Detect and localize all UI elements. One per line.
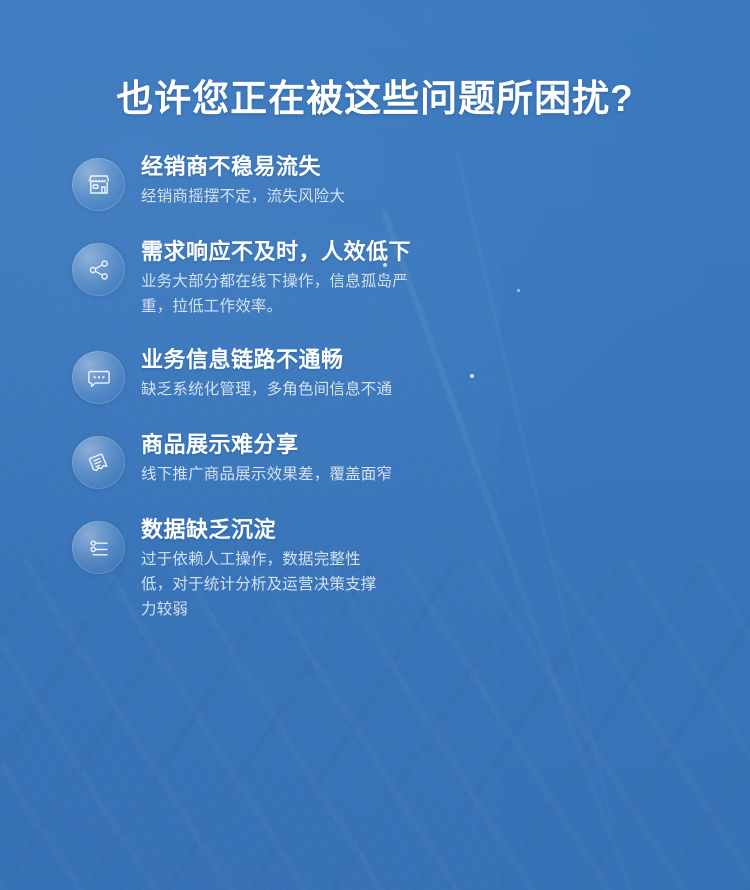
list-item-text: 数据缺乏沉淀 过于依赖人工操作，数据完整性 低，对于统计分析及运营决策支撑 力较… [141,515,377,622]
list-item-title: 经销商不稳易流失 [141,152,345,182]
list-item: 商品展示难分享 线下推广商品展示效果差，覆盖面窄 [0,430,750,489]
list-item-description: 过于依赖人工操作，数据完整性 低，对于统计分析及运营决策支撑 力较弱 [141,547,377,622]
list-item-title: 商品展示难分享 [141,430,392,460]
list-item-title: 业务信息链路不通畅 [141,345,392,375]
list-item: 业务信息链路不通畅 缺乏系统化管理，多角色间信息不通 [0,345,750,404]
list-item: 数据缺乏沉淀 过于依赖人工操作，数据完整性 低，对于统计分析及运营决策支撑 力较… [0,515,750,622]
list-item: 需求响应不及时，人效低下 业务大部分都在线下操作，信息孤岛严 重，拉低工作效率。 [0,237,750,319]
list-item-description: 经销商摇摆不定，流失风险大 [141,184,345,209]
list-item-text: 经销商不稳易流失 经销商摇摆不定，流失风险大 [141,152,345,209]
list-item-title: 数据缺乏沉淀 [141,515,377,545]
page-title: 也许您正在被这些问题所困扰? [0,68,750,122]
promo-page: 也许您正在被这些问题所困扰? 经销商不稳易流失 经销商摇摆不定，流失风险大 [0,0,750,890]
list-item-text: 商品展示难分享 线下推广商品展示效果差，覆盖面窄 [141,430,392,487]
list-item-description: 缺乏系统化管理，多角色间信息不通 [141,377,392,402]
list-item-text: 需求响应不及时，人效低下 业务大部分都在线下操作，信息孤岛严 重，拉低工作效率。 [141,237,411,319]
document-receipt-icon [72,436,125,489]
problem-list: 经销商不稳易流失 经销商摇摆不定，流失风险大 需求响应不及时，人效低下 [0,152,750,648]
storefront-icon [72,158,125,211]
sliders-settings-icon [72,521,125,574]
share-nodes-icon [72,243,125,296]
list-item-title: 需求响应不及时，人效低下 [141,237,411,267]
list-item-text: 业务信息链路不通畅 缺乏系统化管理，多角色间信息不通 [141,345,392,402]
content-layer: 也许您正在被这些问题所困扰? 经销商不稳易流失 经销商摇摆不定，流失风险大 [0,0,750,890]
chat-bubble-dots-icon [72,351,125,404]
list-item: 经销商不稳易流失 经销商摇摆不定，流失风险大 [0,152,750,211]
list-item-description: 业务大部分都在线下操作，信息孤岛严 重，拉低工作效率。 [141,269,411,319]
list-item-description: 线下推广商品展示效果差，覆盖面窄 [141,462,392,487]
